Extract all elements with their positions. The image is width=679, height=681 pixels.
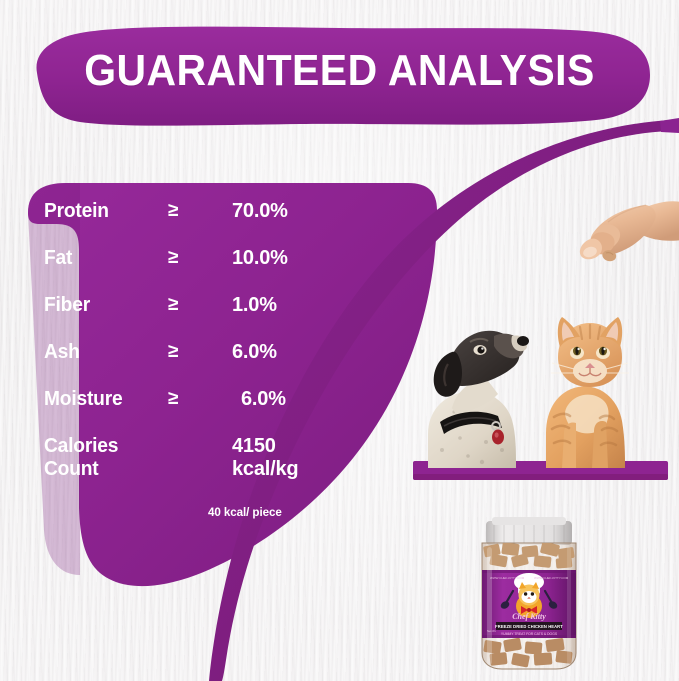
- nutrient-operator: ≥: [160, 388, 222, 410]
- product-jar-photo: Chef Kitty FREEZE DRIED CHICKEN HEART YU…: [470, 513, 588, 673]
- nutrient-name: Fat: [44, 247, 155, 269]
- nutrient-value: 6.0%: [222, 341, 344, 363]
- table-row: Protein ≥ 70.0%: [44, 200, 344, 247]
- nutrient-value: 10.0%: [222, 247, 344, 269]
- nutrient-value: 1.0%: [222, 294, 344, 316]
- cat-photo: [532, 313, 636, 468]
- nutrient-name: Moisture: [44, 388, 155, 410]
- nutrient-value: 6.0%: [222, 388, 344, 410]
- nutrient-operator: ≥: [160, 200, 222, 222]
- table-row: Fat ≥ 10.0%: [44, 247, 344, 294]
- jar-brand-text: Chef Kitty: [512, 612, 546, 621]
- nutrient-operator: ≥: [160, 341, 222, 363]
- dog-photo: [416, 316, 534, 468]
- table-row: Calories Count 4150 kcal/kg: [44, 435, 344, 480]
- nutrient-name: Protein: [44, 200, 155, 222]
- nutrient-value: 70.0%: [222, 200, 344, 222]
- guaranteed-analysis-table: Protein ≥ 70.0% Fat ≥ 10.0% Fiber ≥ 1.0%…: [44, 200, 344, 480]
- nutrient-name: Calories Count: [44, 435, 155, 480]
- table-row: Ash ≥ 6.0%: [44, 341, 344, 388]
- nutrient-name: Ash: [44, 341, 155, 363]
- nutrient-operator: ≥: [160, 247, 222, 269]
- jar-product-text: FREEZE DRIED CHICKEN HEART: [495, 624, 563, 629]
- jar-side-text-right: WWW.CHEF-KITTY.COM: [534, 576, 569, 580]
- nutrient-value: 4150 kcal/kg: [222, 435, 344, 480]
- jar-tagline-text: YUMMY TREAT FOR CATS & DOGS: [501, 632, 558, 636]
- hand-holding-treat-photo: [566, 196, 679, 264]
- table-row: Moisture ≥ 6.0%: [44, 388, 344, 435]
- table-row: Fiber ≥ 1.0%: [44, 294, 344, 341]
- nutrient-operator: ≥: [160, 294, 222, 316]
- calories-footnote: 40 kcal/ piece: [208, 505, 282, 519]
- page-title: GUARANTEED ANALYSIS: [24, 46, 655, 96]
- nutrient-name: Fiber: [44, 294, 155, 316]
- jar-side-text-left: WWW.CHEF-KITTY.COM: [490, 576, 525, 580]
